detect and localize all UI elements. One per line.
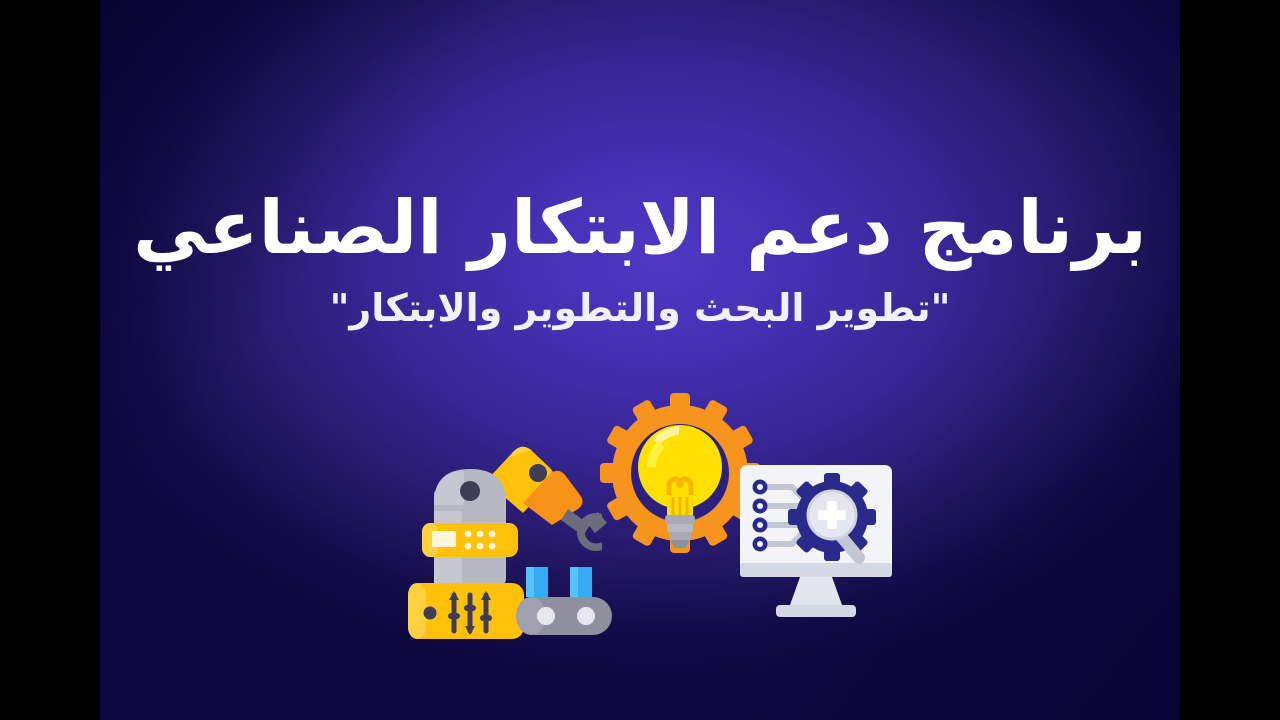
heading-block: برنامج دعم الابتكار الصناعي "تطوير البحث… (100, 186, 1180, 330)
letterbox-bar-right (1180, 0, 1280, 720)
conveyor-belt-icon (516, 567, 612, 635)
lightbulb-in-gear-icon (600, 393, 760, 553)
page-title: برنامج دعم الابتكار الصناعي (100, 186, 1180, 270)
page-subtitle: "تطوير البحث والتطوير والابتكار" (100, 286, 1180, 330)
slide-canvas: برنامج دعم الابتكار الصناعي "تطوير البحث… (100, 0, 1180, 720)
monitor-research-icon (740, 465, 892, 617)
industrial-innovation-illustration (390, 385, 910, 655)
slide-frame: برنامج دعم الابتكار الصناعي "تطوير البحث… (0, 0, 1280, 720)
letterbox-bar-left (0, 0, 100, 720)
